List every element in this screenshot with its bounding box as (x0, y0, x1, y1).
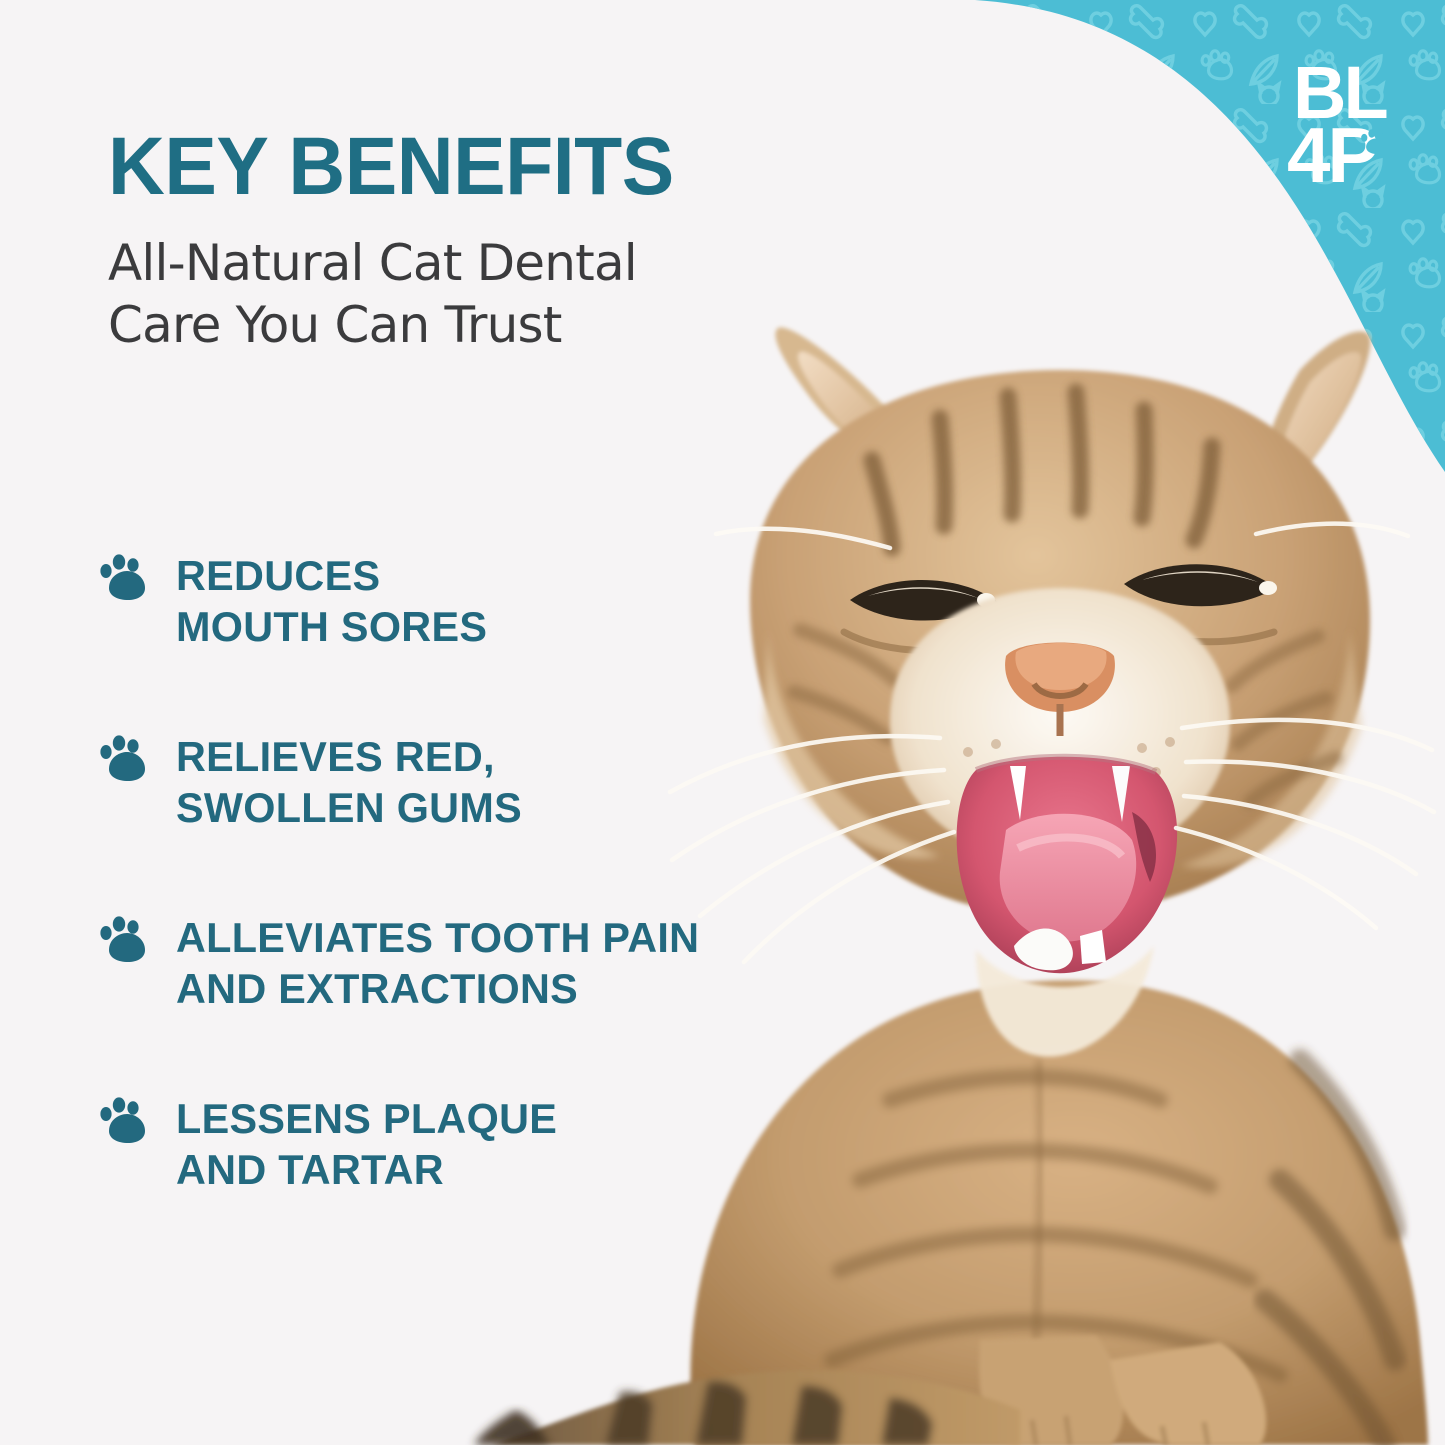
list-item: ALLEVIATES TOOTH PAIN AND EXTRACTIONS (100, 910, 890, 1055)
benefits-list: REDUCES MOUTH SORES RELIEVES RED, SWOLLE… (100, 548, 890, 1236)
page-title: KEY BENEFITS (108, 128, 838, 206)
headline-block: KEY BENEFITS All-Natural Cat Dental Care… (108, 128, 868, 356)
cat-tail (474, 1370, 1020, 1445)
product-benefits-banner: BL 4P (0, 0, 1445, 1445)
benefit-label: ALLEVIATES TOOTH PAIN AND EXTRACTIONS (176, 910, 699, 1014)
paw-print-icon (100, 1091, 176, 1145)
cat-front-paws (979, 1336, 1266, 1445)
cat-nose (1005, 643, 1115, 737)
list-item: LESSENS PLAQUE AND TARTAR (100, 1091, 890, 1236)
page-subtitle: All-Natural Cat Dental Care You Can Trus… (108, 232, 748, 356)
cat-eyes (844, 564, 1277, 651)
list-item: REDUCES MOUTH SORES (100, 548, 890, 693)
paw-print-icon (100, 910, 176, 964)
logo-text-4p: 4P (1287, 111, 1377, 191)
benefit-label: LESSENS PLAQUE AND TARTAR (176, 1091, 557, 1195)
paw-print-icon (100, 729, 176, 783)
cat-mouth (957, 757, 1177, 974)
brand-logo: BL 4P (1287, 46, 1407, 191)
benefit-label: REDUCES MOUTH SORES (176, 548, 487, 652)
benefit-label: RELIEVES RED, SWOLLEN GUMS (176, 729, 522, 833)
list-item: RELIEVES RED, SWOLLEN GUMS (100, 729, 890, 874)
paw-print-icon (100, 548, 176, 602)
